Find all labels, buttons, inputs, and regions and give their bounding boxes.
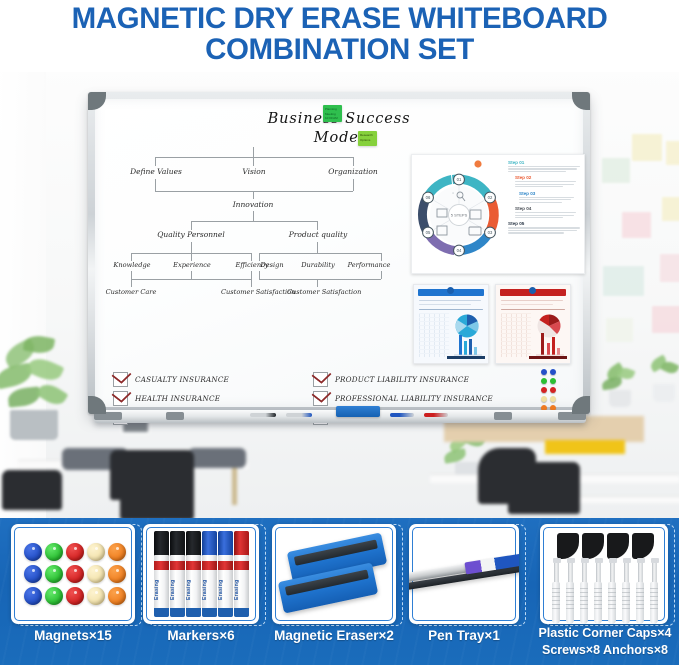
marker-black: Erasing [170, 531, 185, 617]
step-block: Step 04 [508, 206, 580, 218]
product-infographic-page: MAGNETIC DRY ERASE WHITEBOARD COMBINATIO… [0, 0, 679, 665]
connector [317, 221, 318, 230]
whiteboard-pen-tray[interactable] [94, 410, 586, 423]
process-wheel-svg: 5 STEPS [412, 155, 508, 273]
connector [155, 157, 156, 166]
connector [191, 253, 192, 261]
checklist-label: CASUALTY INSURANCE [135, 375, 229, 384]
magnets-panel[interactable] [11, 524, 135, 624]
board-sticky-note-1[interactable]: Planning Meeting 10:00 AM [323, 105, 342, 122]
connector [155, 191, 353, 192]
screw-head [623, 558, 631, 563]
poster-header-dot [447, 287, 454, 294]
poster-divider [419, 309, 483, 310]
node-customer-satisfaction-right: Customer Satisfaction [287, 288, 349, 297]
chair-light [188, 448, 246, 468]
step-description [515, 212, 580, 218]
connector [191, 221, 192, 230]
board-magnet-green[interactable] [550, 378, 556, 384]
step-description [515, 181, 580, 187]
magnet-blue [24, 565, 42, 583]
magnet-cream [87, 565, 105, 583]
node-organization: Organization [313, 167, 393, 176]
connector [155, 157, 353, 158]
marker-black: Erasing [154, 531, 169, 617]
svg-text:04: 04 [457, 248, 462, 253]
screw-head [553, 558, 561, 563]
connector [381, 253, 382, 261]
magnet-orange [108, 587, 126, 605]
wall-sticky-note [622, 212, 651, 238]
wall-sticky-note [652, 306, 679, 333]
board-magnet-red[interactable] [541, 387, 547, 393]
tray-marker-black[interactable] [250, 413, 276, 417]
connector [251, 253, 252, 261]
node-durability: Durability [293, 261, 343, 269]
board-magnet-red[interactable] [550, 387, 556, 393]
magnet-green [45, 587, 63, 605]
checklist-item[interactable]: PROFESSIONAL LIABILITY INSURANCE [313, 391, 493, 406]
tray-bracket [494, 412, 512, 420]
node-define-values: Define Values [117, 167, 195, 176]
connector [259, 253, 381, 254]
process-step-list: Step 01 Step 02 Step 03 [508, 160, 580, 237]
poster-table [501, 313, 531, 357]
connector [353, 179, 354, 191]
connector [155, 179, 156, 191]
marker-blue: Erasing [218, 531, 233, 617]
wall-sticky-note [606, 318, 633, 342]
checklist-label: PRODUCT LIABILITY INSURANCE [335, 375, 469, 384]
marker-brand: Erasing [202, 573, 217, 607]
checklist-label: HEALTH INSURANCE [135, 394, 220, 403]
board-magnet-cream[interactable] [541, 396, 547, 402]
markers-caption: Markers×6 [143, 628, 259, 643]
wall-anchor [566, 582, 574, 624]
svg-text:02: 02 [488, 195, 493, 200]
marker-brand: Erasing [234, 573, 249, 607]
board-sticky-note-2[interactable]: Research Options [358, 131, 377, 146]
pen-tray-panel[interactable] [409, 524, 519, 624]
screw-head [609, 558, 617, 563]
chair-dark [120, 484, 194, 520]
magnet-green [45, 543, 63, 561]
connector [259, 279, 381, 280]
wall-sticky-note [603, 266, 644, 296]
wall-sticky-note [660, 254, 679, 282]
marker-brand: Erasing [170, 573, 185, 607]
connector [253, 191, 254, 199]
chair-dark [2, 470, 62, 510]
board-magnet-blue[interactable] [550, 369, 556, 375]
poster-blue-report [413, 284, 489, 364]
node-product-quality: Product quality [275, 230, 361, 239]
screw-head [637, 558, 645, 563]
magnet-orange [108, 565, 126, 583]
circular-process-infographic: 5 STEPS [411, 154, 585, 274]
hardware-panel[interactable] [540, 524, 668, 624]
checklist-label: PROFESSIONAL LIABILITY INSURANCE [335, 394, 493, 403]
wall-anchor [650, 582, 658, 624]
accessories-banner: Magnets×15 Erasing Erasing [0, 518, 679, 665]
whiteboard[interactable]: Business Success Model Define Values Vis… [88, 92, 590, 414]
wall-sticky-note [662, 197, 679, 221]
node-innovation: Innovation [217, 200, 289, 209]
magnet-orange [108, 543, 126, 561]
marker-red: Erasing [234, 531, 249, 617]
tray-marker-red[interactable] [424, 413, 448, 417]
step-label: Step 04 [515, 206, 580, 211]
poster-text [501, 304, 553, 305]
node-design: Design [251, 261, 293, 269]
connector [191, 242, 192, 253]
whiteboard-surface[interactable]: Business Success Model Define Values Vis… [95, 99, 583, 407]
hardware-caption-line-2: Screws×8 Anchors×8 [531, 643, 679, 657]
connector [131, 253, 132, 261]
node-experience: Experience [163, 261, 221, 269]
title-line-2: COMBINATION SET [205, 35, 474, 65]
svg-text:06: 06 [426, 195, 431, 200]
connector [131, 279, 251, 280]
connector [191, 271, 192, 279]
board-magnet-blue[interactable] [541, 369, 547, 375]
connector [259, 271, 260, 279]
poster-bar-chart [452, 331, 484, 357]
marker-brand: Erasing [154, 573, 169, 607]
step-description [508, 227, 580, 233]
magnet-red [66, 565, 84, 583]
screw-head [567, 558, 575, 563]
wall-anchor [594, 582, 602, 624]
poster-header-dot [529, 287, 536, 294]
wall-anchor [622, 582, 630, 624]
magnets-caption: Magnets×15 [11, 628, 135, 643]
step-label: Step 05 [508, 221, 580, 226]
tray-bracket [166, 412, 184, 420]
desk-left-leg [232, 462, 237, 505]
svg-text:03: 03 [488, 230, 493, 235]
node-customer-care: Customer Care [105, 288, 157, 297]
magnet-red [66, 543, 84, 561]
title-line-1: MAGNETIC DRY ERASE WHITEBOARD [72, 4, 608, 34]
step-block: Step 01 [508, 160, 580, 172]
wall-anchor [552, 582, 560, 624]
connector [381, 271, 382, 279]
node-customer-satisfaction-left: Customer Satisfaction [221, 288, 283, 297]
room-scene: Business Success Model Define Values Vis… [0, 62, 679, 520]
wall-sticky-note [602, 158, 630, 183]
screw-head [581, 558, 589, 563]
eraser-panel[interactable] [272, 524, 396, 624]
magnet-green [45, 565, 63, 583]
step-block: Step 05 [508, 221, 580, 233]
connector [131, 271, 132, 279]
connector [259, 253, 260, 261]
markers-panel[interactable]: Erasing Erasing Erasing [143, 524, 259, 624]
tray-marker-blue[interactable] [286, 413, 312, 417]
tray-eraser[interactable] [336, 406, 380, 417]
marker-black: Erasing [186, 531, 201, 617]
poster-text [501, 300, 563, 301]
node-performance: Performance [341, 261, 397, 269]
step-label: Step 03 [519, 191, 580, 196]
checklist-item[interactable]: PRODUCT LIABILITY INSURANCE [313, 372, 469, 387]
step-label: Step 02 [515, 175, 580, 180]
connector [317, 279, 318, 287]
eraser-caption: Magnetic Eraser×2 [272, 628, 396, 643]
wall-anchor [636, 582, 644, 624]
node-quality-personnel: Quality Personnel [145, 230, 237, 239]
marker-brand: Erasing [186, 573, 201, 607]
step-block: Step 02 [508, 175, 580, 187]
poster-footer-bar [447, 356, 485, 359]
checklist-item[interactable]: CASUALTY INSURANCE [113, 372, 229, 387]
tray-marker-blue[interactable] [390, 413, 414, 417]
board-magnet-cream[interactable] [550, 396, 556, 402]
diagram-title-line-2: Model [95, 130, 583, 146]
step-description [519, 197, 580, 203]
marker-blue: Erasing [202, 531, 217, 617]
magnet-blue [24, 587, 42, 605]
checklist-item[interactable]: HEALTH INSURANCE [113, 391, 220, 406]
magnet-cream [87, 543, 105, 561]
step-label: Step 01 [508, 160, 580, 165]
connector [251, 271, 252, 279]
wall-sticky-note [632, 134, 662, 161]
svg-text:5 STEPS: 5 STEPS [451, 213, 468, 218]
node-vision: Vision [221, 167, 287, 176]
poster-text [419, 304, 471, 305]
magnet-red [66, 587, 84, 605]
step-description [508, 166, 580, 172]
poster-text [419, 300, 481, 301]
connector [131, 279, 132, 287]
connector [251, 279, 252, 287]
connector [353, 157, 354, 166]
connector [253, 211, 254, 221]
wall-sticky-note [666, 141, 679, 165]
screw-head [595, 558, 603, 563]
poster-divider [501, 309, 565, 310]
credenza-accent [545, 440, 625, 454]
page-title: MAGNETIC DRY ERASE WHITEBOARD COMBINATIO… [0, 0, 679, 72]
poster-bar-chart [534, 331, 566, 357]
pen-tray-caption: Pen Tray×1 [409, 628, 519, 643]
magnet-cream [87, 587, 105, 605]
svg-text:05: 05 [426, 230, 431, 235]
connector [253, 157, 254, 166]
magnet-blue [24, 543, 42, 561]
wall-anchor [608, 582, 616, 624]
marker-brand: Erasing [218, 573, 233, 607]
connector [317, 242, 318, 253]
whiteboard-frame: Business Success Model Define Values Vis… [88, 92, 590, 414]
wall-anchor [580, 582, 588, 624]
poster-red-report [495, 284, 571, 364]
connector [253, 147, 254, 157]
connector [191, 221, 317, 222]
screw-head [651, 558, 659, 563]
chair-dark [508, 462, 580, 514]
poster-table [419, 313, 449, 357]
step-block: Step 03 [508, 191, 580, 203]
node-knowledge: Knowledge [105, 261, 159, 269]
board-magnet-green[interactable] [541, 378, 547, 384]
hardware-caption-line-1: Plastic Corner Caps×4 [531, 626, 679, 640]
svg-text:01: 01 [457, 177, 462, 182]
poster-footer-bar [529, 356, 567, 359]
